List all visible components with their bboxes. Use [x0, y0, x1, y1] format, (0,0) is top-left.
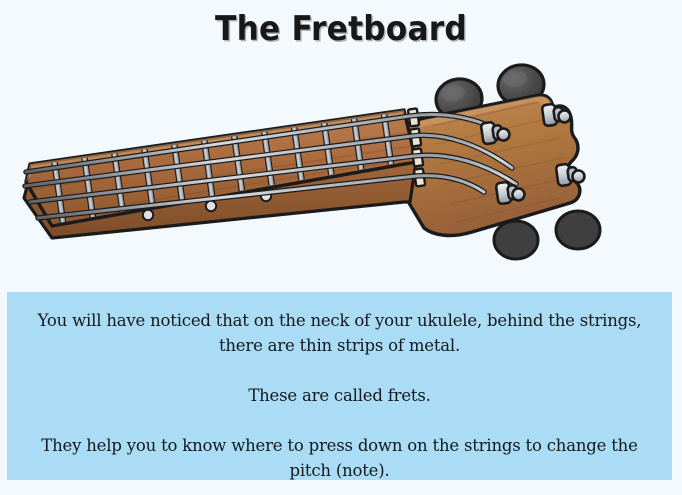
ukulele-illustration-svg: [0, 52, 682, 282]
page-title: The Fretboard: [27, 8, 654, 50]
tuner-button-4[interactable]: [556, 211, 600, 249]
fret-marker-dot-1: [143, 210, 153, 220]
slide: The Fretboard: [0, 0, 682, 495]
fret-marker-dot-2: [206, 201, 216, 211]
panel-paragraph-2: These are called frets.: [29, 383, 650, 408]
panel-paragraph-3: They help you to know where to press dow…: [29, 433, 650, 483]
tuner-button-3[interactable]: [494, 221, 538, 259]
ukulele-illustration: [0, 52, 682, 282]
info-panel: You will have noticed that on the neck o…: [7, 292, 672, 480]
panel-paragraph-1: You will have noticed that on the neck o…: [29, 308, 650, 358]
